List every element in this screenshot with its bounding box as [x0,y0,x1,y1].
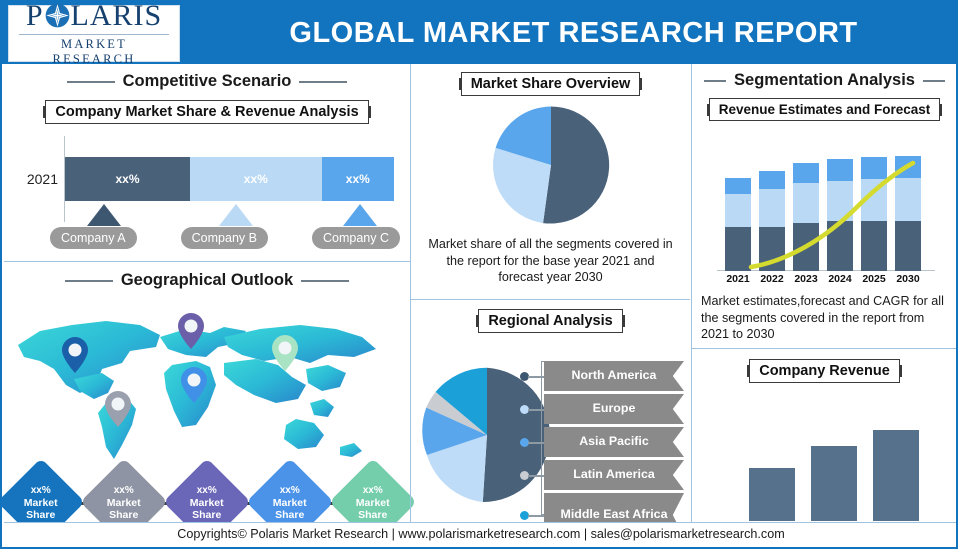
page-footer: Copyrights© Polaris Market Research | ww… [4,522,958,545]
diamond-pct: xx% [197,485,217,496]
title-rule-right [301,280,349,282]
ribbon-north-america[interactable]: North America [544,361,684,391]
diamond-line1: Market [24,496,58,508]
diamond-pct: xx% [280,485,300,496]
diamond-pct: xx% [114,485,134,496]
diamond-pct: xx% [363,485,383,496]
diamond-region-5-label: xx% Market Share [356,484,390,521]
title-rule-left [704,80,726,82]
infographic-page: P LARIS MARKET RESEARCH GLOBAL MARKET RE… [0,0,958,549]
segmentation-subtitle-box: Revenue Estimates and Forecast [709,98,941,121]
page-title: GLOBAL MARKET RESEARCH REPORT [187,2,958,64]
diamond-line2: Share [26,508,55,520]
company-revenue-chart[interactable]: 2021 2022 2030 [737,411,927,521]
geographical-outlook-title-text: Geographical Outlook [121,271,293,290]
box-tick-left [459,78,462,90]
geographical-outlook-title: Geographical Outlook [4,271,410,290]
market-share-overview-note: Market share of all the segments covered… [425,236,676,286]
ribbon-europe[interactable]: Europe [544,394,684,424]
logo-subtitle: MARKET RESEARCH [19,34,169,67]
segmentation-year-2022: 2022 [755,273,789,285]
regional-analysis-title-box: Regional Analysis [478,309,622,333]
ribbon-line [528,409,544,411]
diamond-pct: xx% [31,485,51,496]
polaris-logo: P LARIS MARKET RESEARCH [8,5,180,62]
title-rule-right [923,80,945,82]
pill-company-b[interactable]: Company B [181,227,268,249]
competitive-scenario-title-text: Competitive Scenario [123,72,292,91]
segmentation-year-2023: 2023 [789,273,823,285]
bar-segment-company-c[interactable]: xx% [322,157,394,201]
box-tick-right [368,106,371,118]
pin-asia-pacific[interactable] [272,335,298,376]
diamond-line2: Share [358,508,387,520]
regional-analysis-title-text: Regional Analysis [488,313,612,329]
box-tick-left [747,365,750,377]
marker-triangle-company-c [343,204,377,226]
segmentation-subtitle-text: Revenue Estimates and Forecast [719,102,931,117]
ribbon-row-europe: Europe [544,394,684,424]
competitive-scenario-panel: Competitive Scenario Company Market Shar… [4,72,410,262]
regional-analysis-panel: Regional Analysis North Amer [411,309,690,543]
box-tick-right [622,315,625,327]
logo-letters-laris: LARIS [71,1,163,31]
pin-latin-america[interactable] [105,391,131,432]
world-map [10,307,404,467]
diamond-region-1-label: xx% Market Share [24,484,58,521]
ribbon-row-asia-pacific: Asia Pacific [544,427,684,457]
ribbon-asia-pacific[interactable]: Asia Pacific [544,427,684,457]
pin-north-america[interactable] [62,337,88,378]
segmentation-analysis-panel: Segmentation Analysis Revenue Estimates … [691,71,958,349]
marker-triangle-company-b [219,204,253,226]
bar-year-label: 2021 [22,171,64,187]
bar-segment-company-b[interactable]: xx% [190,157,322,201]
diamond-line2: Share [192,508,221,520]
market-share-overview-title-text: Market Share Overview [471,76,631,92]
diamond-region-3-label: xx% Market Share [190,484,224,521]
box-tick-right [899,365,902,377]
company-revenue-bar-2030[interactable] [873,430,919,521]
ribbon-row-latin-america: Latin America [544,460,684,490]
company-revenue-title-box: Company Revenue [749,359,900,383]
competitive-scenario-title: Competitive Scenario [4,72,410,91]
pin-europe[interactable] [178,313,204,354]
box-tick-right [639,78,642,90]
company-label-pills: Company A Company B Company C [50,227,400,249]
stacked-bar: xx% xx% xx% [65,157,394,201]
market-share-overview-title-box: Market Share Overview [461,72,641,96]
right-column: Segmentation Analysis Revenue Estimates … [691,64,958,526]
segmentation-analysis-title: Segmentation Analysis [691,71,958,90]
competitive-subtitle-text: Company Market Share & Revenue Analysis [55,104,358,120]
regional-analysis-pie[interactable] [417,365,557,505]
segmentation-year-2021: 2021 [721,273,755,285]
segmentation-note: Market estimates,forecast and CAGR for a… [701,293,949,343]
diamond-region-2-label: xx% Market Share [107,484,141,521]
title-rule-left [65,280,113,282]
cagr-curve [717,131,935,271]
ribbon-latin-america[interactable]: Latin America [544,460,684,490]
ribbon-line [528,376,544,378]
page-header: P LARIS MARKET RESEARCH GLOBAL MARKET RE… [2,2,958,64]
box-tick-left [707,104,710,116]
ribbon-line [528,442,544,444]
regional-label-list: North America Europe Asia Pacific Latin … [544,361,684,540]
segmentation-year-2025: 2025 [857,273,891,285]
market-share-overview-pie[interactable] [490,104,612,226]
compass-star-icon [45,3,70,28]
marker-triangle-company-a [87,204,121,226]
diamond-line2: Share [275,508,304,520]
diamond-line1: Market [190,496,224,508]
diamond-region-4-label: xx% Market Share [273,484,307,521]
competitive-subtitle-box: Company Market Share & Revenue Analysis [45,100,368,124]
bar-segment-company-a[interactable]: xx% [65,157,190,201]
segmentation-year-2024: 2024 [823,273,857,285]
diamond-line1: Market [107,496,141,508]
geographical-outlook-panel: Geographical Outlook [4,271,410,543]
logo-wordmark: P LARIS [26,1,162,31]
ribbon-row-north-america: North America [544,361,684,391]
company-revenue-title-text: Company Revenue [759,363,890,379]
diamond-line2: Share [109,508,138,520]
left-column: Competitive Scenario Company Market Shar… [4,64,410,526]
box-tick-left [43,106,46,118]
pill-company-c[interactable]: Company C [312,227,400,249]
company-revenue-panel: Company Revenue 2021 2022 2030 [691,359,958,543]
company-revenue-bar-2021[interactable] [749,468,795,521]
segmentation-analysis-title-text: Segmentation Analysis [734,71,915,90]
logo-letter-p: P [26,1,44,31]
title-rule-right [299,81,347,83]
market-share-overview-panel: Market Share Overview Market share of al… [411,72,690,300]
pin-middle-east[interactable] [181,367,207,408]
company-revenue-bar-2022[interactable] [811,446,857,521]
ribbon-line [528,515,544,517]
box-tick-left [476,315,479,327]
diamond-line1: Market [273,496,307,508]
middle-column: Market Share Overview Market share of al… [410,64,692,526]
segmentation-year-2030: 2030 [891,273,925,285]
diamond-line1: Market [356,496,390,508]
pill-company-a[interactable]: Company A [50,227,137,249]
company-markers [59,204,394,228]
title-rule-left [67,81,115,83]
market-share-bar-row: 2021 xx% xx% xx% [22,156,394,202]
revenue-estimates-chart[interactable]: 2021 2022 2023 2024 2025 2030 [717,133,935,285]
ribbon-line [528,475,544,477]
box-tick-right [939,104,942,116]
